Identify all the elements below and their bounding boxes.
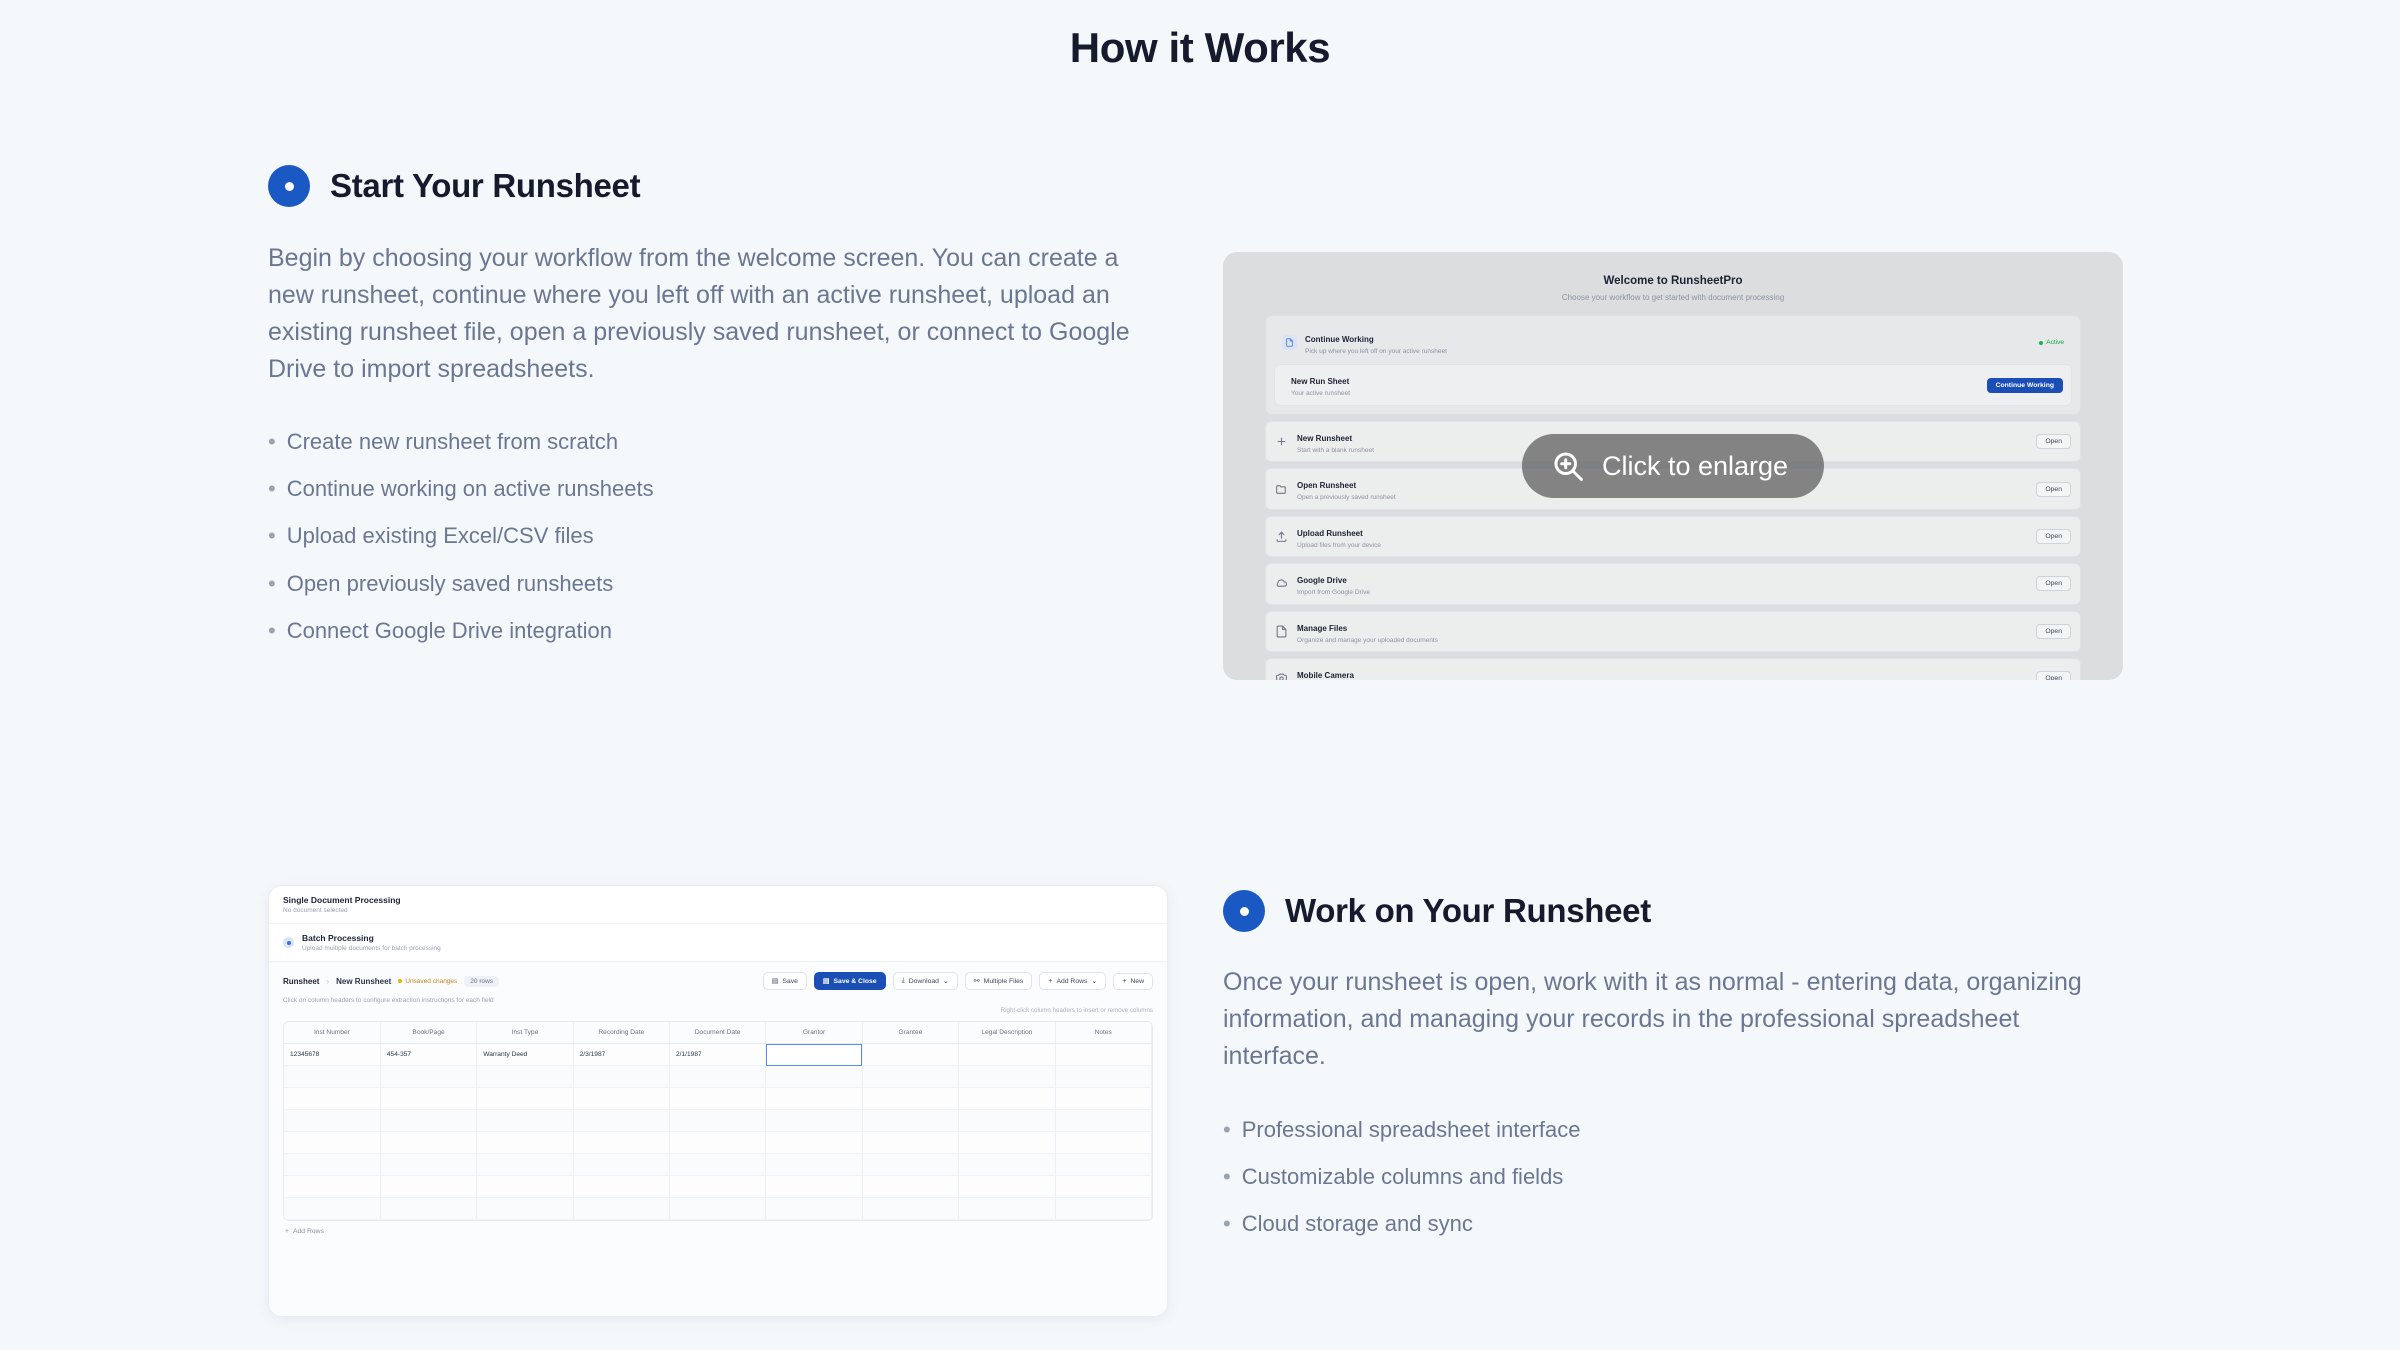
item-name: Mobile Camera bbox=[1297, 671, 1354, 680]
section-work-on-your-runsheet: Work on Your Runsheet Once your runsheet… bbox=[1223, 890, 2123, 1260]
multiple-files-button[interactable]: ⚯Multiple Files bbox=[965, 972, 1033, 990]
table-cell[interactable] bbox=[959, 1044, 1055, 1066]
save-icon: ▤ bbox=[823, 977, 830, 985]
section-body: Once your runsheet is open, work with it… bbox=[1223, 964, 2103, 1075]
cloud-icon bbox=[1275, 577, 1288, 590]
table-cell[interactable] bbox=[959, 1088, 1055, 1110]
status-badge: Active bbox=[2039, 339, 2064, 346]
table-cell[interactable] bbox=[1055, 1154, 1152, 1176]
welcome-subtitle: Choose your workflow to get started with… bbox=[1265, 293, 2081, 302]
step-badge-icon bbox=[268, 165, 310, 207]
list-item-upload-runsheet[interactable]: Upload Runsheet Upload files from your d… bbox=[1265, 516, 2081, 557]
breadcrumb-root[interactable]: Runsheet bbox=[283, 977, 319, 986]
table-cell[interactable] bbox=[573, 1110, 669, 1132]
add-rows-button[interactable]: +Add Rows⌄ bbox=[1039, 972, 1106, 990]
list-item-label: Cloud storage and sync bbox=[1242, 1212, 1473, 1236]
runsheet-mock: Single Document Processing No document s… bbox=[269, 886, 1167, 1316]
table-cell[interactable] bbox=[670, 1110, 766, 1132]
list-item: •Continue working on active runsheets bbox=[268, 477, 1168, 501]
status-label: Active bbox=[2046, 339, 2064, 346]
column-header[interactable]: Notes bbox=[1055, 1022, 1152, 1044]
table-cell[interactable] bbox=[573, 1198, 669, 1220]
table-row: 12345678 454-357 Warranty Deed 2/3/1987 … bbox=[284, 1044, 1152, 1066]
continue-working-text: Continue Working Pick up where you left … bbox=[1305, 329, 2031, 356]
download-icon: ⤓ bbox=[902, 977, 905, 985]
table-cell[interactable] bbox=[862, 1088, 958, 1110]
row-count-badge: 20 rows bbox=[464, 976, 499, 987]
table-cell[interactable] bbox=[573, 1132, 669, 1154]
continue-working-button[interactable]: Continue Working bbox=[1987, 378, 2063, 393]
open-button[interactable]: Open bbox=[2036, 576, 2071, 591]
new-button[interactable]: +New bbox=[1113, 973, 1153, 990]
toolbar-buttons: ▤Save ▤Save & Close ⤓Download⌄ ⚯Multiple… bbox=[763, 972, 1153, 990]
chevron-down-icon: ⌄ bbox=[1091, 977, 1097, 985]
active-runsheet-desc: Your active runsheet bbox=[1291, 390, 1979, 398]
column-header[interactable]: Grantee bbox=[862, 1022, 958, 1044]
unsaved-changes-badge: Unsaved changes bbox=[398, 978, 457, 985]
column-hint: Click on column headers to configure ext… bbox=[269, 993, 1167, 1004]
item-name: Manage Files bbox=[1297, 624, 1347, 633]
section-heading: Work on Your Runsheet bbox=[1285, 892, 1651, 930]
table-cell[interactable] bbox=[766, 1198, 862, 1220]
welcome-title: Welcome to RunsheetPro bbox=[1265, 275, 2081, 287]
file-icon bbox=[1282, 335, 1297, 350]
table-cell[interactable] bbox=[573, 1154, 669, 1176]
add-rows-footer-label: Add Rows bbox=[293, 1228, 324, 1235]
download-label: Download bbox=[909, 978, 939, 985]
table-cell[interactable] bbox=[573, 1066, 669, 1088]
column-header[interactable]: Legal Description bbox=[959, 1022, 1055, 1044]
list-item-label: Continue working on active runsheets bbox=[287, 477, 654, 501]
camera-icon bbox=[1275, 672, 1288, 680]
batch-text: Batch Processing Upload multiple documen… bbox=[302, 933, 441, 952]
single-doc-desc: No document selected bbox=[283, 907, 1153, 914]
batch-desc: Upload multiple documents for batch proc… bbox=[302, 945, 441, 952]
plus-icon: + bbox=[1048, 978, 1052, 985]
continue-working-row: Continue Working Pick up where you left … bbox=[1274, 324, 2072, 361]
table-cell[interactable] bbox=[380, 1132, 476, 1154]
table-cell[interactable] bbox=[380, 1110, 476, 1132]
batch-title: Batch Processing bbox=[302, 933, 441, 943]
paperclip-icon: ⚯ bbox=[974, 977, 980, 985]
table-cell[interactable] bbox=[670, 1132, 766, 1154]
table-cell[interactable] bbox=[862, 1066, 958, 1088]
table-header-row: Inst Number Book/Page Inst Type Recordin… bbox=[284, 1022, 1152, 1044]
table-cell[interactable] bbox=[380, 1154, 476, 1176]
table-cell[interactable] bbox=[1055, 1198, 1152, 1220]
continue-working-card[interactable]: Continue Working Pick up where you left … bbox=[1265, 315, 2081, 415]
column-header[interactable]: Inst Type bbox=[477, 1022, 573, 1044]
folder-open-icon bbox=[1275, 483, 1288, 496]
table-cell[interactable] bbox=[1055, 1088, 1152, 1110]
continue-working-desc: Pick up where you left off on your activ… bbox=[1305, 348, 2031, 356]
list-item-mobile-camera[interactable]: Mobile Camera Capture documents on the g… bbox=[1265, 658, 2081, 680]
open-button[interactable]: Open bbox=[2036, 482, 2071, 497]
add-rows-label: Add Rows bbox=[1056, 978, 1087, 985]
section-header: Start Your Runsheet bbox=[268, 165, 1168, 207]
continue-working-title: Continue Working bbox=[1305, 335, 1374, 344]
runsheet-toolbar: Runsheet › New Runsheet Unsaved changes … bbox=[269, 962, 1167, 993]
table-cell[interactable] bbox=[284, 1198, 380, 1220]
column-header[interactable]: Document Date bbox=[670, 1022, 766, 1044]
table-cell[interactable] bbox=[766, 1110, 862, 1132]
table-cell[interactable] bbox=[959, 1198, 1055, 1220]
item-name: New Runsheet bbox=[1297, 434, 1352, 443]
breadcrumb-separator: › bbox=[326, 977, 329, 986]
item-text: Google Drive Import from Google Drive bbox=[1297, 570, 2027, 597]
table-row bbox=[284, 1154, 1152, 1176]
overlay-label: Click to enlarge bbox=[1602, 451, 1788, 482]
table-row bbox=[284, 1198, 1152, 1220]
page-title: How it Works bbox=[0, 0, 2400, 72]
runsheet-screen-preview[interactable]: Single Document Processing No document s… bbox=[268, 885, 1168, 1317]
table-cell[interactable] bbox=[284, 1088, 380, 1110]
table-cell[interactable] bbox=[1055, 1132, 1152, 1154]
table-cell[interactable] bbox=[959, 1110, 1055, 1132]
table-cell-selected[interactable] bbox=[766, 1044, 862, 1066]
breadcrumb: Runsheet › New Runsheet Unsaved changes … bbox=[283, 976, 499, 987]
section-heading: Start Your Runsheet bbox=[330, 167, 640, 205]
table-cell[interactable]: 12345678 bbox=[284, 1044, 380, 1066]
table-cell[interactable] bbox=[477, 1198, 573, 1220]
open-button[interactable]: Open bbox=[2036, 671, 2071, 680]
list-item-label: Customizable columns and fields bbox=[1242, 1165, 1564, 1189]
item-name: Google Drive bbox=[1297, 576, 1347, 585]
save-and-close-button[interactable]: ▤Save & Close bbox=[814, 972, 886, 990]
list-item-label: Open previously saved runsheets bbox=[287, 572, 614, 596]
single-document-processing-band: Single Document Processing No document s… bbox=[269, 886, 1167, 924]
item-text: Upload Runsheet Upload files from your d… bbox=[1297, 523, 2027, 550]
list-item: •Connect Google Drive integration bbox=[268, 619, 1168, 643]
list-item: •Create new runsheet from scratch bbox=[268, 430, 1168, 454]
table-cell[interactable]: Warranty Deed bbox=[477, 1044, 573, 1066]
table-cell[interactable] bbox=[1055, 1066, 1152, 1088]
list-item: •Upload existing Excel/CSV files bbox=[268, 524, 1168, 548]
active-runsheet-text: New Run Sheet Your active runsheet bbox=[1291, 371, 1979, 398]
table-cell[interactable] bbox=[959, 1154, 1055, 1176]
plus-icon bbox=[1275, 435, 1288, 448]
table-cell[interactable]: 2/1/1987 bbox=[670, 1044, 766, 1066]
section-bullet-list: •Professional spreadsheet interface •Cus… bbox=[1223, 1118, 2123, 1237]
table-cell[interactable] bbox=[862, 1132, 958, 1154]
table-cell[interactable] bbox=[959, 1066, 1055, 1088]
table-row bbox=[284, 1176, 1152, 1198]
plus-icon: + bbox=[285, 1228, 289, 1235]
section-body: Begin by choosing your workflow from the… bbox=[268, 240, 1158, 388]
active-runsheet-name: New Run Sheet bbox=[1291, 377, 1349, 386]
list-item-label: Upload existing Excel/CSV files bbox=[287, 524, 594, 548]
plus-icon: + bbox=[1122, 978, 1126, 985]
list-item: •Open previously saved runsheets bbox=[268, 572, 1168, 596]
table-cell[interactable]: 2/3/1987 bbox=[573, 1044, 669, 1066]
item-text: Mobile Camera Capture documents on the g… bbox=[1297, 665, 2027, 680]
table-cell[interactable] bbox=[766, 1154, 862, 1176]
table-row bbox=[284, 1110, 1152, 1132]
table-cell[interactable] bbox=[1055, 1044, 1152, 1066]
table-cell[interactable] bbox=[670, 1176, 766, 1198]
runsheet-grid[interactable]: Inst Number Book/Page Inst Type Recordin… bbox=[283, 1021, 1153, 1221]
item-name: Open Runsheet bbox=[1297, 481, 1356, 490]
table-cell[interactable] bbox=[380, 1198, 476, 1220]
section-header: Work on Your Runsheet bbox=[1223, 890, 2123, 932]
chevron-down-icon: ⌄ bbox=[943, 977, 949, 985]
column-header[interactable]: Grantor bbox=[766, 1022, 862, 1044]
column-header[interactable]: Book/Page bbox=[380, 1022, 476, 1044]
table-cell[interactable] bbox=[862, 1176, 958, 1198]
table-cell[interactable] bbox=[670, 1088, 766, 1110]
table-cell[interactable] bbox=[380, 1066, 476, 1088]
save-icon: ▤ bbox=[772, 977, 779, 985]
save-button[interactable]: ▤Save bbox=[763, 972, 807, 990]
table-cell[interactable] bbox=[766, 1088, 862, 1110]
step-badge-icon bbox=[1223, 890, 1265, 932]
file-icon bbox=[1275, 625, 1288, 638]
list-item-label: Connect Google Drive integration bbox=[287, 619, 612, 643]
list-item: •Professional spreadsheet interface bbox=[1223, 1118, 2123, 1142]
table-cell[interactable] bbox=[477, 1110, 573, 1132]
save-close-label: Save & Close bbox=[834, 978, 877, 985]
unsaved-label: Unsaved changes bbox=[405, 978, 457, 985]
runsheet-table: Inst Number Book/Page Inst Type Recordin… bbox=[284, 1022, 1152, 1220]
table-row bbox=[284, 1088, 1152, 1110]
download-button[interactable]: ⤓Download⌄ bbox=[893, 972, 958, 990]
active-runsheet-row[interactable]: New Run Sheet Your active runsheet Conti… bbox=[1274, 364, 2072, 405]
single-doc-title: Single Document Processing bbox=[283, 895, 1153, 905]
section-bullet-list: •Create new runsheet from scratch •Conti… bbox=[268, 430, 1168, 643]
add-rows-footer-button[interactable]: + Add Rows bbox=[269, 1221, 1167, 1235]
open-button[interactable]: Open bbox=[2036, 434, 2071, 449]
table-cell[interactable] bbox=[477, 1088, 573, 1110]
open-button[interactable]: Open bbox=[2036, 529, 2071, 544]
welcome-screen-preview[interactable]: Welcome to RunsheetPro Choose your workf… bbox=[1223, 252, 2123, 680]
item-desc: Organize and manage your uploaded docume… bbox=[1297, 637, 2027, 645]
table-cell[interactable] bbox=[573, 1088, 669, 1110]
list-item-google-drive[interactable]: Google Drive Import from Google Drive Op… bbox=[1265, 563, 2081, 604]
table-cell[interactable] bbox=[380, 1088, 476, 1110]
table-cell[interactable] bbox=[766, 1066, 862, 1088]
table-cell[interactable] bbox=[284, 1176, 380, 1198]
table-cell[interactable] bbox=[959, 1176, 1055, 1198]
table-cell[interactable] bbox=[284, 1110, 380, 1132]
table-cell[interactable] bbox=[862, 1044, 958, 1066]
table-cell[interactable] bbox=[862, 1198, 958, 1220]
list-item: •Cloud storage and sync bbox=[1223, 1212, 2123, 1236]
table-cell[interactable] bbox=[284, 1132, 380, 1154]
breadcrumb-current: New Runsheet bbox=[336, 977, 391, 986]
table-cell[interactable] bbox=[670, 1154, 766, 1176]
table-row bbox=[284, 1066, 1152, 1088]
item-desc: Import from Google Drive bbox=[1297, 589, 2027, 597]
zoom-in-icon bbox=[1550, 448, 1586, 484]
click-to-enlarge-overlay[interactable]: Click to enlarge bbox=[1522, 434, 1824, 498]
section-start-your-runsheet: Start Your Runsheet Begin by choosing yo… bbox=[268, 165, 1168, 666]
batch-icon bbox=[283, 937, 294, 948]
table-body: 12345678 454-357 Warranty Deed 2/3/1987 … bbox=[284, 1044, 1152, 1220]
column-hint-right: Right-click column headers to insert or … bbox=[269, 1004, 1167, 1014]
upload-icon bbox=[1275, 530, 1288, 543]
save-label: Save bbox=[782, 978, 798, 985]
table-cell[interactable] bbox=[670, 1066, 766, 1088]
new-label: New bbox=[1130, 978, 1144, 985]
table-cell[interactable] bbox=[670, 1198, 766, 1220]
multiple-files-label: Multiple Files bbox=[984, 978, 1024, 985]
table-cell[interactable] bbox=[862, 1154, 958, 1176]
table-cell[interactable] bbox=[477, 1066, 573, 1088]
table-cell[interactable] bbox=[1055, 1110, 1152, 1132]
table-cell[interactable] bbox=[766, 1176, 862, 1198]
table-cell[interactable] bbox=[477, 1154, 573, 1176]
table-row bbox=[284, 1132, 1152, 1154]
table-cell[interactable] bbox=[959, 1132, 1055, 1154]
table-cell[interactable]: 454-357 bbox=[380, 1044, 476, 1066]
list-item-label: Create new runsheet from scratch bbox=[287, 430, 618, 454]
list-item-label: Professional spreadsheet interface bbox=[1242, 1118, 1581, 1142]
item-name: Upload Runsheet bbox=[1297, 529, 1363, 538]
column-header[interactable]: Inst Number bbox=[284, 1022, 380, 1044]
table-cell[interactable] bbox=[477, 1132, 573, 1154]
list-item: •Customizable columns and fields bbox=[1223, 1165, 2123, 1189]
list-item-manage-files[interactable]: Manage Files Organize and manage your up… bbox=[1265, 611, 2081, 652]
table-cell[interactable] bbox=[284, 1154, 380, 1176]
table-cell[interactable] bbox=[862, 1110, 958, 1132]
table-cell[interactable] bbox=[573, 1176, 669, 1198]
item-text: Manage Files Organize and manage your up… bbox=[1297, 618, 2027, 645]
batch-processing-band[interactable]: Batch Processing Upload multiple documen… bbox=[269, 924, 1167, 962]
column-header[interactable]: Recording Date bbox=[573, 1022, 669, 1044]
item-desc: Upload files from your device bbox=[1297, 542, 2027, 550]
table-cell[interactable] bbox=[380, 1176, 476, 1198]
table-cell[interactable] bbox=[284, 1066, 380, 1088]
open-button[interactable]: Open bbox=[2036, 624, 2071, 639]
how-it-works-page: How it Works Start Your Runsheet Begin b… bbox=[0, 0, 2400, 1350]
table-cell[interactable] bbox=[766, 1132, 862, 1154]
table-cell[interactable] bbox=[1055, 1176, 1152, 1198]
table-cell[interactable] bbox=[477, 1176, 573, 1198]
